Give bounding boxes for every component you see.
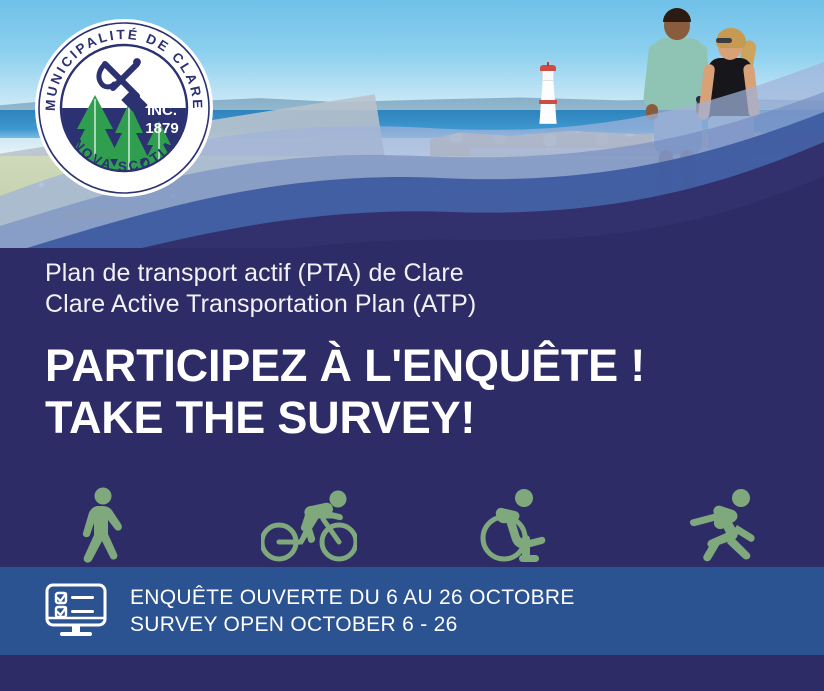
pictogram-running — [618, 487, 824, 565]
logo-inc-year: 1879 — [145, 120, 178, 137]
pictogram-walking — [0, 487, 206, 565]
survey-dates-fr: ENQUÊTE OUVERTE DU 6 AU 26 OCTOBRE — [130, 584, 575, 611]
title-fr: Plan de transport actif (PTA) de Clare — [45, 258, 785, 289]
survey-dates-text: ENQUÊTE OUVERTE DU 6 AU 26 OCTOBRE SURVE… — [130, 584, 575, 638]
headline-en: TAKE THE SURVEY! — [45, 392, 785, 444]
cycling-icon — [261, 489, 357, 563]
survey-monitor-checklist-icon — [44, 582, 108, 640]
title-en: Clare Active Transportation Plan (ATP) — [45, 289, 785, 320]
pictogram-wheelchair — [412, 487, 618, 565]
wheelchair-icon — [475, 487, 555, 565]
running-icon — [677, 487, 765, 565]
logo-inc-label: INC. — [147, 102, 177, 119]
footer-strip — [0, 655, 824, 691]
headline-fr: PARTICIPEZ À L'ENQUÊTE ! — [45, 340, 785, 392]
survey-dates-en: SURVEY OPEN OCTOBER 6 - 26 — [130, 611, 575, 638]
pictogram-row — [0, 487, 824, 565]
poster-canvas: INC. 1879 MUNICIPALITÉ DE CLARE NOVA SCO… — [0, 0, 824, 691]
pictogram-cycling — [206, 489, 412, 563]
clare-municipality-logo: INC. 1879 MUNICIPALITÉ DE CLARE NOVA SCO… — [33, 17, 215, 199]
walking-icon — [67, 487, 139, 565]
survey-dates-bar: ENQUÊTE OUVERTE DU 6 AU 26 OCTOBRE SURVE… — [0, 567, 824, 655]
copy-block: Plan de transport actif (PTA) de Clare C… — [45, 258, 785, 444]
